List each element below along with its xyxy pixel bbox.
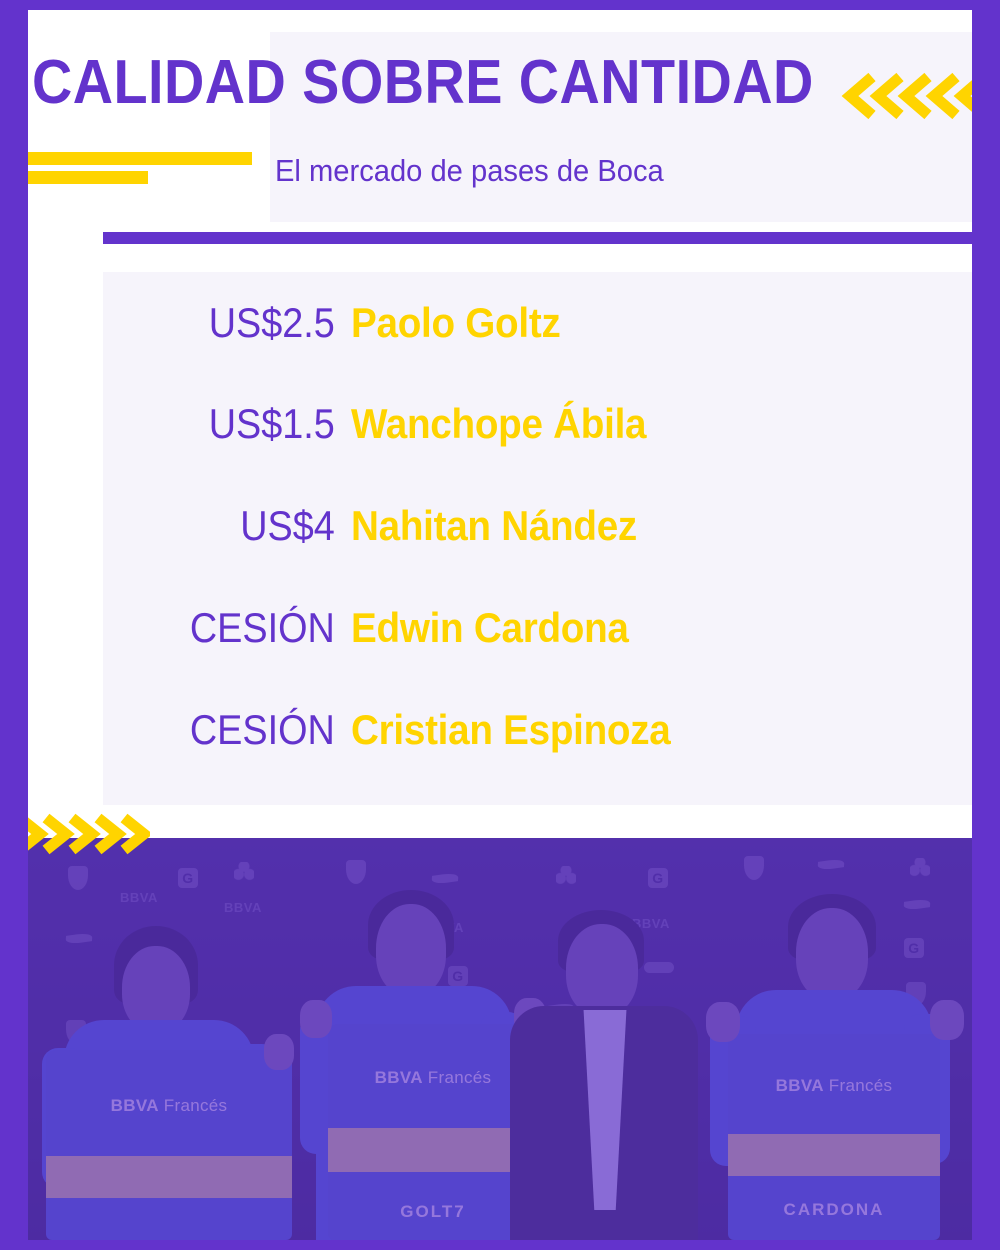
infographic-poster: CALIDAD SOBRE CANTIDAD El mercado de pas… <box>0 0 1000 1250</box>
transfer-player: Cristian Espinoza <box>351 707 671 753</box>
transfer-row: US$4 Nahitan Nández <box>103 475 972 576</box>
page-title: CALIDAD SOBRE CANTIDAD <box>32 52 814 114</box>
transfer-player: Edwin Cardona <box>351 605 629 651</box>
transfer-row: US$2.5 Paolo Goltz <box>103 272 972 373</box>
page-subtitle: El mercado de pases de Boca <box>275 152 664 190</box>
transfer-player: Nahitan Nández <box>351 503 637 549</box>
transfer-amount: US$4 <box>128 503 351 549</box>
transfer-amount: US$1.5 <box>128 401 351 447</box>
bottom-chevron-group <box>10 812 150 856</box>
transfer-amount: CESIÓN <box>128 605 351 651</box>
transfer-amount: CESIÓN <box>128 707 351 753</box>
panel-photo-gap <box>28 805 972 838</box>
frame-bottom-edge <box>0 1240 1000 1250</box>
transfer-player: Paolo Goltz <box>351 300 560 346</box>
transfer-row: CESIÓN Edwin Cardona <box>103 577 972 678</box>
frame-right-edge <box>972 0 1000 1250</box>
transfer-list-panel: US$2.5 Paolo Goltz US$1.5 Wanchope Ábila… <box>103 272 972 805</box>
yellow-accent-bar-long <box>28 152 252 165</box>
header-divider <box>103 232 972 244</box>
transfer-row: US$1.5 Wanchope Ábila <box>103 373 972 474</box>
transfer-amount: US$2.5 <box>128 300 351 346</box>
frame-left-edge <box>0 0 28 1250</box>
frame-top-edge <box>0 0 1000 10</box>
transfer-player: Wanchope Ábila <box>351 401 646 447</box>
header-section: CALIDAD SOBRE CANTIDAD El mercado de pas… <box>28 10 972 272</box>
photo-section: BBVA BBVA G BBVA BBVA G G BBVA BBVA <box>28 838 972 1240</box>
yellow-accent-bar-short <box>28 171 148 184</box>
chevron-right-icon <box>10 812 150 856</box>
photo-purple-overlay <box>28 838 972 1240</box>
transfer-row: CESIÓN Cristian Espinoza <box>103 679 972 780</box>
